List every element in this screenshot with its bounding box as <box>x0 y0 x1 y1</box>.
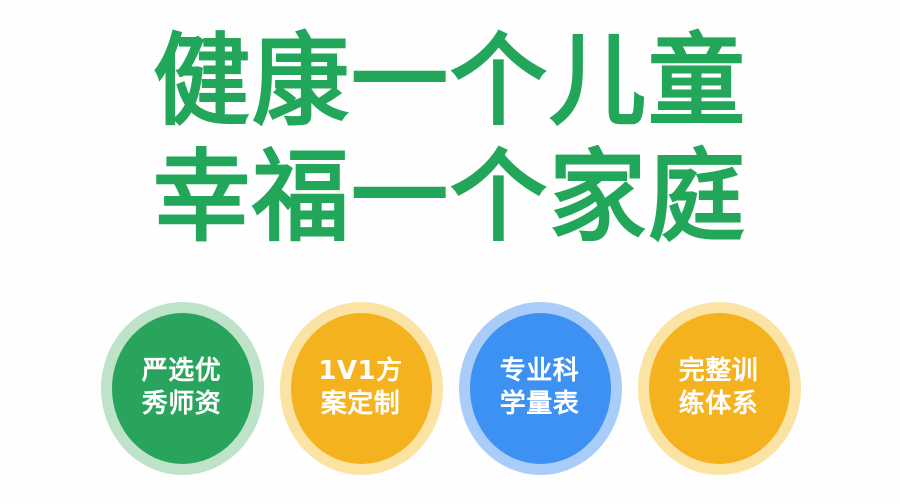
feature-badge-one-on-one-plan[interactable]: 1V1方 案定制 <box>275 299 447 477</box>
promo-poster: 健康一个儿童 幸福一个家庭 严选优 秀师资 1V1方 案定制 专业科 学量表 完… <box>0 0 900 504</box>
feature-badge-selected-teachers[interactable]: 严选优 秀师资 <box>96 299 268 477</box>
headline-block: 健康一个儿童 幸福一个家庭 <box>0 22 900 254</box>
feature-badge-complete-training-system[interactable]: 完整训 练体系 <box>633 299 805 477</box>
headline-line-1: 健康一个儿童 <box>0 22 900 141</box>
headline-line-2: 幸福一个家庭 <box>0 138 900 257</box>
badge-label: 完整训 练体系 <box>665 355 773 421</box>
feature-badge-scientific-scale[interactable]: 专业科 学量表 <box>454 299 626 477</box>
badge-label: 严选优 秀师资 <box>128 355 236 421</box>
badge-label: 专业科 学量表 <box>486 355 594 421</box>
feature-badge-row: 严选优 秀师资 1V1方 案定制 专业科 学量表 完整训 练体系 <box>0 297 900 479</box>
badge-label: 1V1方 案定制 <box>307 355 415 421</box>
